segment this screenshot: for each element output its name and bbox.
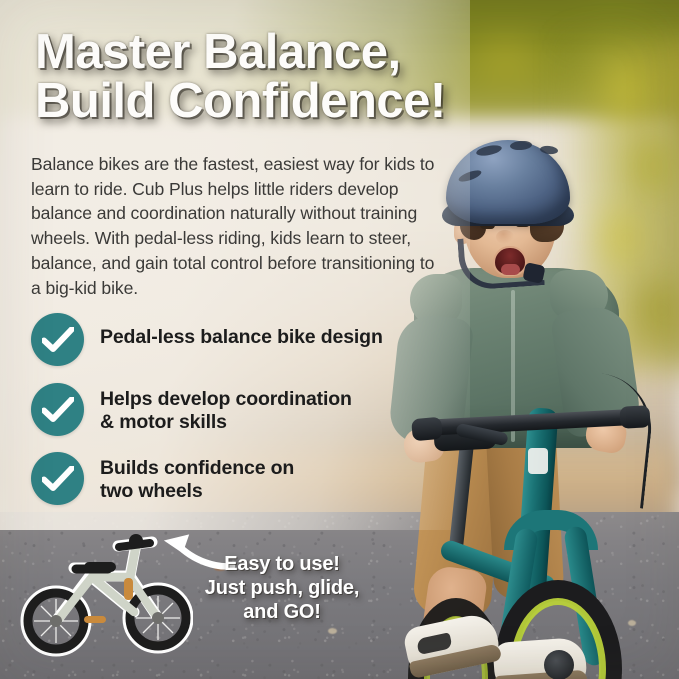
list-item: Builds confidence on two wheels: [31, 452, 431, 505]
bike-grip-right: [619, 405, 650, 429]
shoe-logo: [416, 632, 453, 655]
bullet-label: Builds confidence on two wheels: [100, 452, 294, 503]
callout-text: Easy to use! Just push, glide, and GO!: [196, 552, 368, 624]
boy-shoe-right: [492, 637, 587, 679]
headline-line-2: Build Confidence!: [35, 77, 635, 126]
bullet-label-line-1: Builds confidence on: [100, 457, 294, 479]
check-icon: [31, 452, 84, 505]
bike-front-hub: [544, 650, 574, 679]
bullet-label: Pedal-less balance bike design: [100, 313, 383, 349]
callout-line-2: Just push, glide,: [196, 576, 368, 600]
bullet-label-line-2: & motor skills: [100, 411, 227, 433]
infographic-canvas: Master Balance, Build Confidence! Balanc…: [0, 0, 679, 679]
bullet-label-line-2: two wheels: [100, 480, 203, 502]
feature-bullet-list: Pedal-less balance bike design Helps dev…: [31, 313, 431, 521]
page-title: Master Balance, Build Confidence!: [35, 28, 635, 125]
bike-head-badge: [528, 448, 548, 474]
check-icon: [31, 383, 84, 436]
list-item: Helps develop coordination & motor skill…: [31, 383, 431, 436]
body-paragraph: Balance bikes are the fastest, easiest w…: [31, 152, 443, 300]
helmet-buckle: [522, 262, 545, 284]
check-icon: [31, 313, 84, 366]
shoe-sole: [495, 670, 588, 679]
callout-line-3: and GO!: [196, 600, 368, 624]
bike-brake-cable: [587, 373, 656, 508]
list-item: Pedal-less balance bike design: [31, 313, 431, 366]
pebble: [328, 628, 337, 634]
callout-line-1: Easy to use!: [196, 552, 368, 576]
bullet-label-line-1: Helps develop coordination: [100, 388, 352, 410]
headline-line-1: Master Balance,: [35, 25, 401, 79]
bullet-label: Helps develop coordination & motor skill…: [100, 383, 352, 434]
